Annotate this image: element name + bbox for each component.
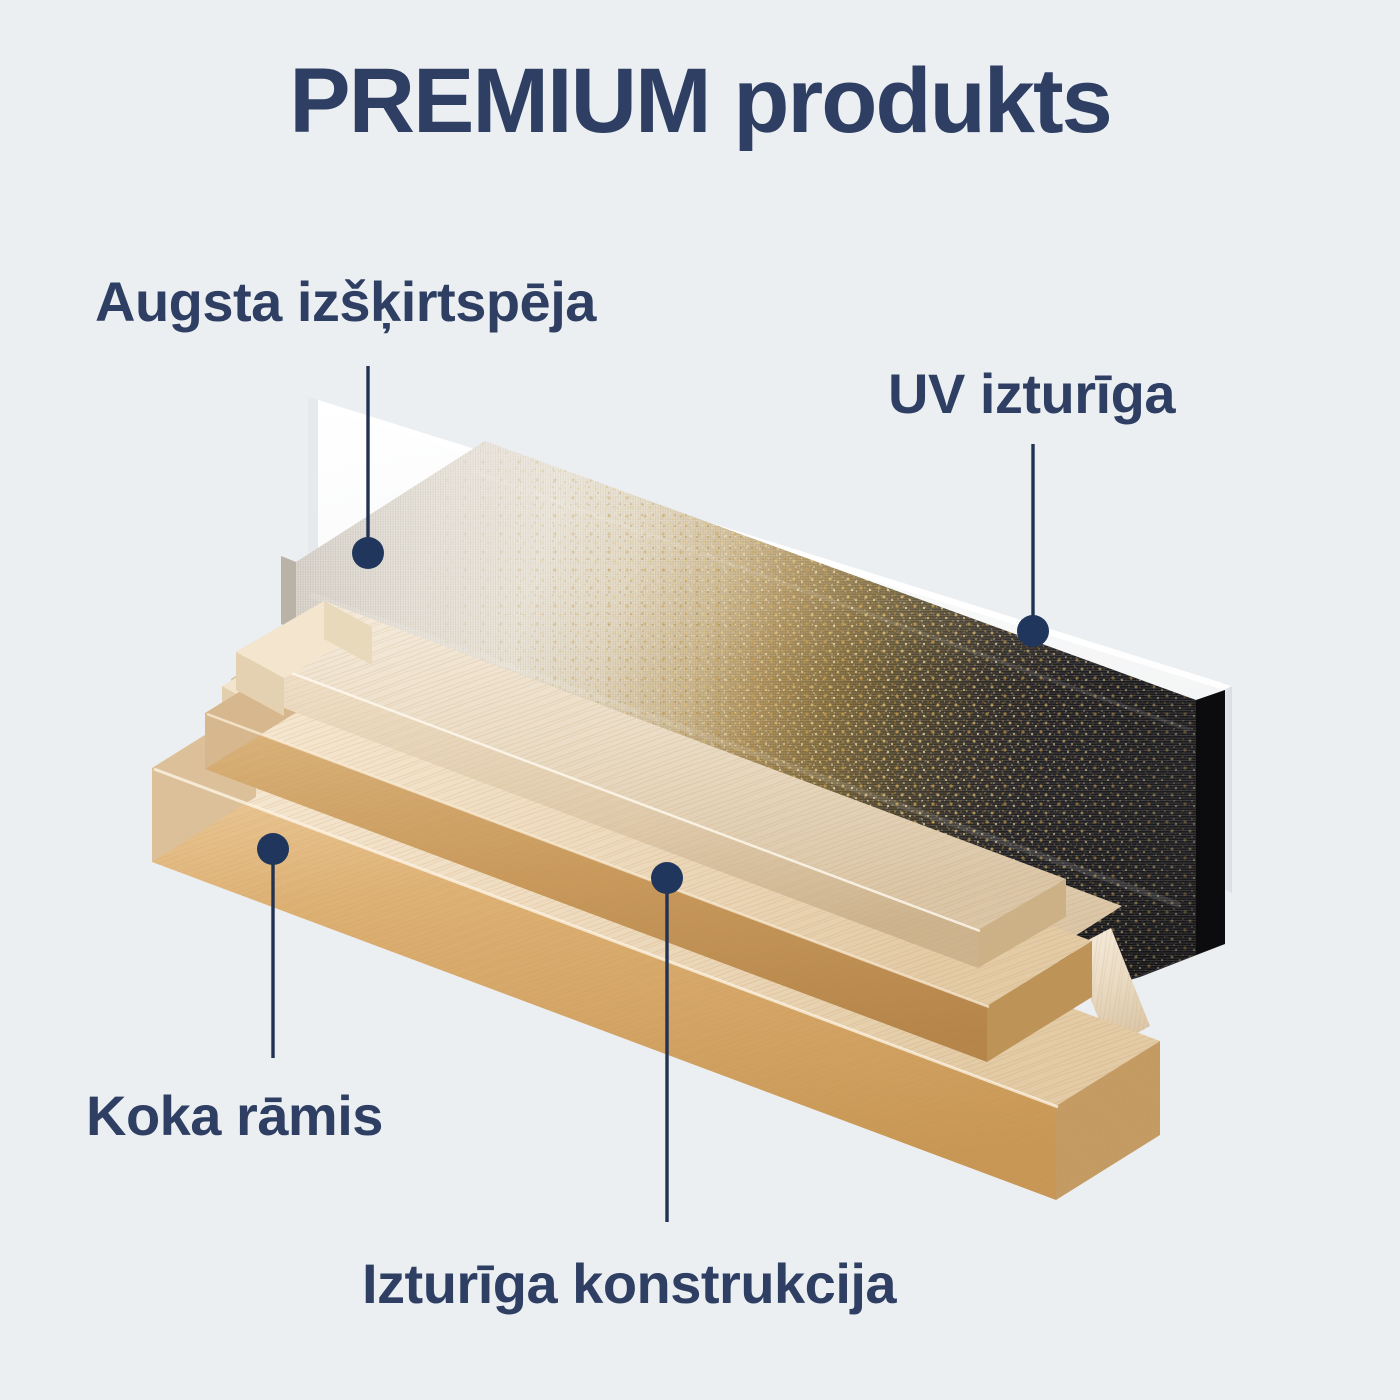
leader-dot-resolution xyxy=(352,537,384,569)
leader-dot-frame xyxy=(257,833,289,865)
callout-label-uv: UV izturīga xyxy=(888,366,1175,422)
leader-dot-structure xyxy=(651,862,683,894)
product-exploded-diagram xyxy=(0,0,1400,1400)
callout-label-structure: Izturīga konstrukcija xyxy=(362,1256,896,1312)
callout-label-resolution: Augsta izšķirtspēja xyxy=(95,274,596,330)
leader-dot-uv xyxy=(1017,615,1049,647)
callout-label-frame: Koka rāmis xyxy=(86,1088,383,1144)
page-title: PREMIUM produkts xyxy=(0,55,1400,147)
infographic-canvas: PREMIUM produkts Augsta izšķirtspēja UV … xyxy=(0,0,1400,1400)
